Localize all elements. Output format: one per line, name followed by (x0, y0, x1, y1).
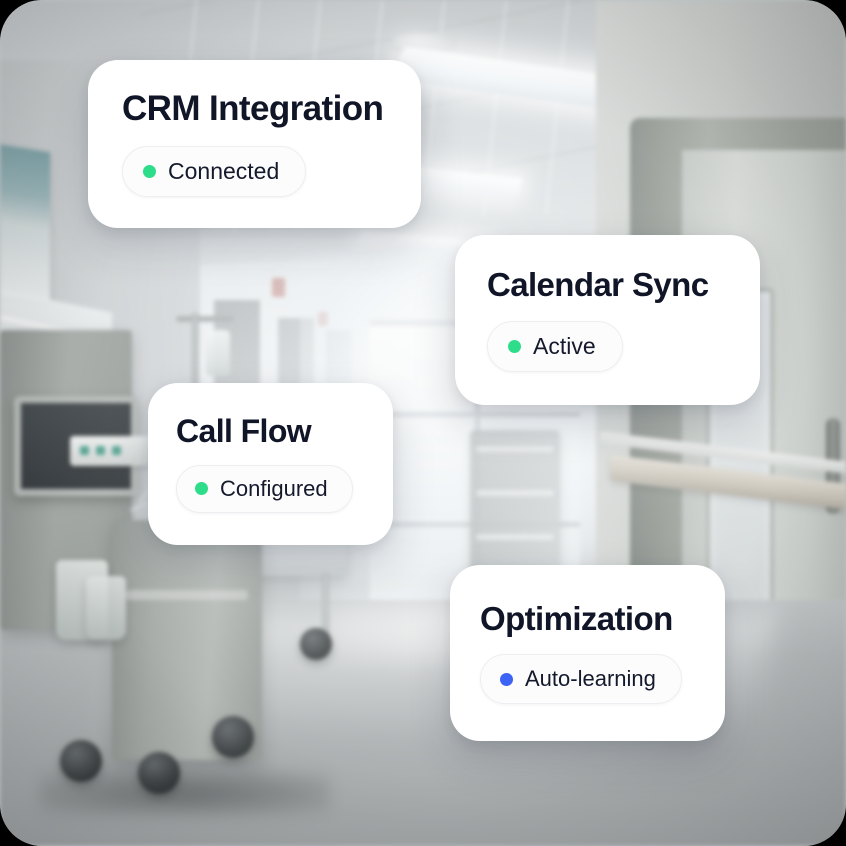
status-card-optimization[interactable]: Optimization Auto-learning (450, 565, 725, 741)
cart-floor-shadow (40, 770, 330, 816)
status-dot-icon (500, 673, 513, 686)
scene-root: CRM Integration Connected Calendar Sync … (0, 0, 846, 846)
iv-pole-hook (176, 316, 234, 322)
status-badge[interactable]: Connected (122, 146, 306, 197)
bed-caster (300, 628, 332, 660)
status-badge-label: Configured (220, 476, 328, 502)
status-card-call-flow[interactable]: Call Flow Configured (148, 383, 393, 545)
wall-notice-board (0, 144, 50, 303)
card-title: CRM Integration (122, 91, 421, 128)
status-card-calendar-sync[interactable]: Calendar Sync Active (455, 235, 760, 405)
card-title: Call Flow (176, 415, 393, 449)
status-badge-label: Active (533, 333, 596, 360)
equipment-trolley (470, 430, 560, 580)
card-title: Optimization (480, 602, 725, 637)
card-title: Calendar Sync (487, 268, 760, 303)
status-dot-icon (195, 482, 208, 495)
status-badge[interactable]: Active (487, 321, 623, 372)
status-badge[interactable]: Configured (176, 465, 353, 513)
status-badge-label: Connected (168, 158, 279, 185)
status-badge-label: Auto-learning (525, 666, 656, 692)
status-dot-icon (508, 340, 521, 353)
status-dot-icon (143, 165, 156, 178)
wall-fixture (272, 278, 285, 297)
status-card-crm-integration[interactable]: CRM Integration Connected (88, 60, 421, 228)
status-badge[interactable]: Auto-learning (480, 654, 682, 704)
cart-caster (212, 716, 254, 758)
iv-fluid-bag (206, 330, 230, 376)
